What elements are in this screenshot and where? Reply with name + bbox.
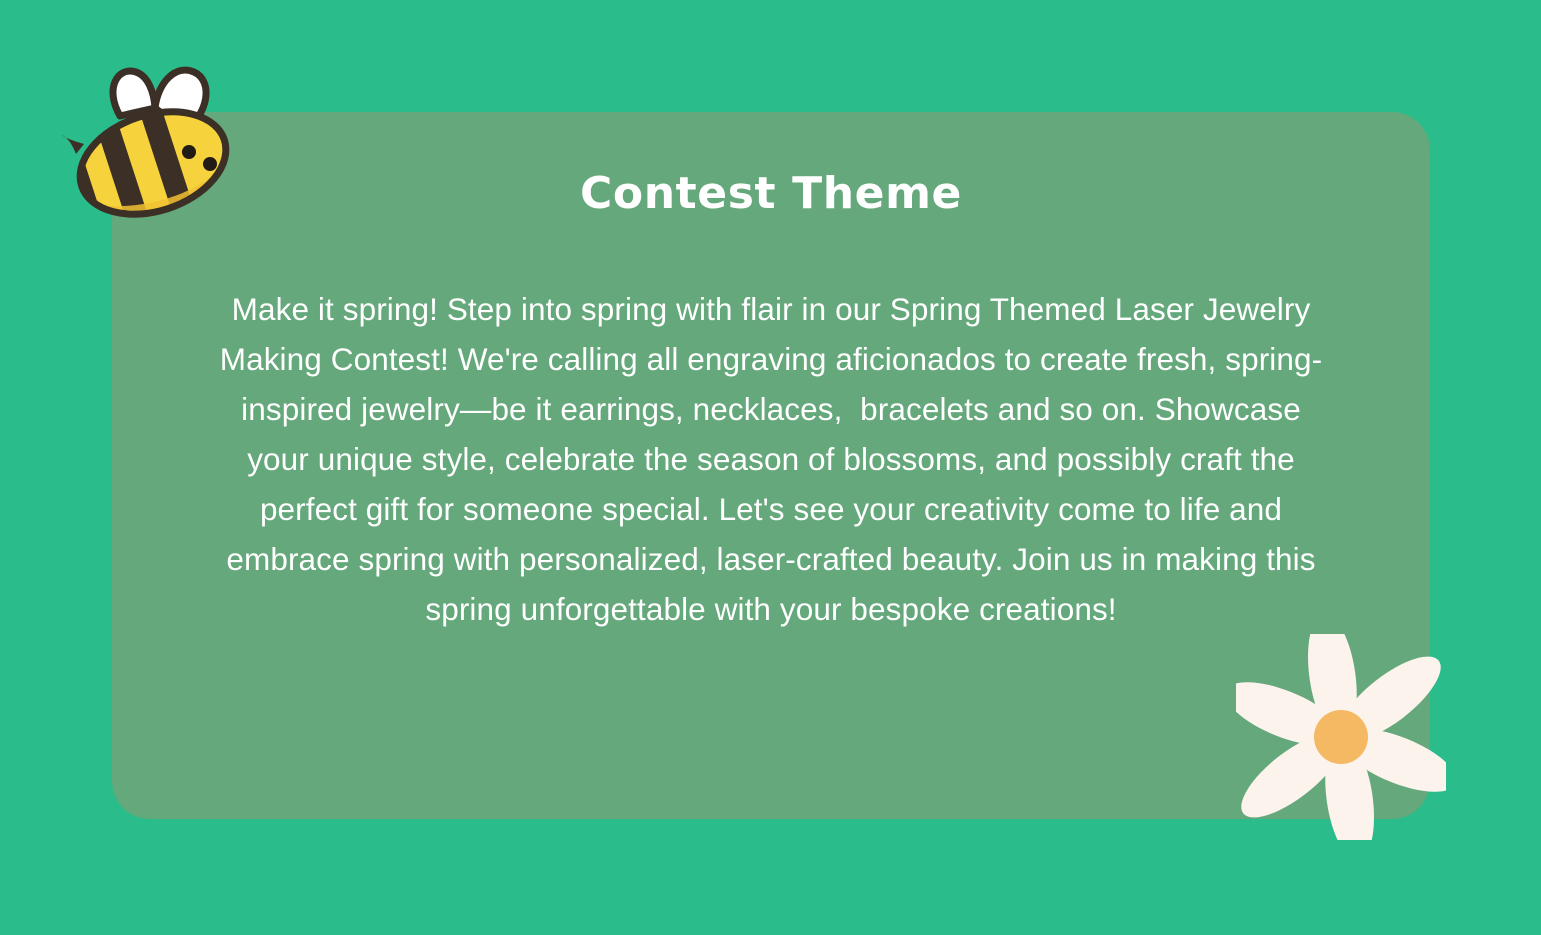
bee-icon (58, 58, 238, 223)
daisy-center (1314, 710, 1368, 764)
page-title: Contest Theme (112, 170, 1430, 218)
card-content: Contest Theme Make it spring! Step into … (112, 112, 1430, 819)
bee-tail (62, 135, 84, 154)
daisy-flower-icon (1236, 634, 1446, 840)
contest-theme-card: Contest Theme Make it spring! Step into … (112, 112, 1430, 819)
contest-theme-description: Make it spring! Step into spring with fl… (210, 284, 1332, 634)
poster-canvas: Contest Theme Make it spring! Step into … (0, 0, 1541, 935)
